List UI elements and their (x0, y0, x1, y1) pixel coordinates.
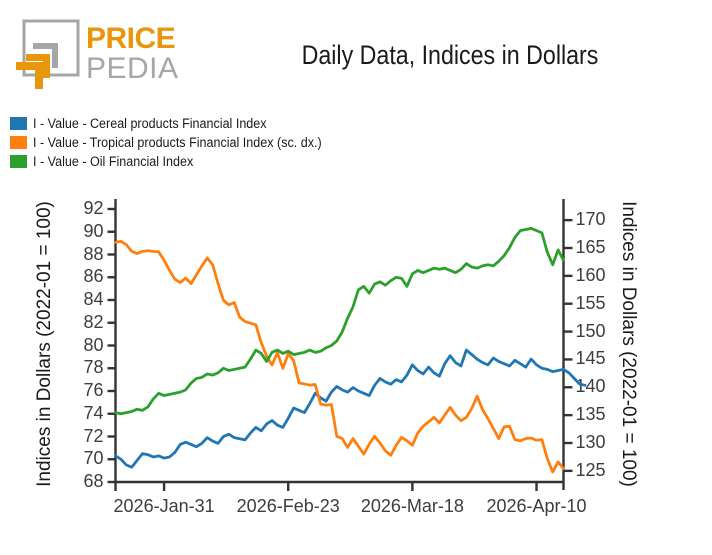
legend-item[interactable]: I - Value - Oil Financial Index (10, 152, 343, 170)
logo-word-price: PRICE (86, 24, 175, 54)
chart-legend: I - Value - Cereal products Financial In… (10, 114, 343, 171)
series-lines (116, 228, 586, 472)
chart-page: PRICE PEDIA Daily Data, Indices in Dolla… (0, 0, 712, 555)
legend-item[interactable]: I - Value - Cereal products Financial In… (10, 114, 343, 132)
logo-word-pedia: PEDIA (86, 54, 179, 84)
legend-label: I - Value - Tropical products Financial … (33, 135, 322, 150)
legend-swatch-cereal-icon (10, 117, 27, 130)
chart-container: Indices in Dollars (2022-01 = 100) Indic… (0, 185, 712, 555)
series-line (116, 228, 564, 413)
plot-area (0, 185, 712, 555)
legend-item[interactable]: I - Value - Tropical products Financial … (10, 133, 343, 151)
legend-label: I - Value - Oil Financial Index (33, 154, 193, 169)
series-line (116, 241, 564, 472)
legend-swatch-oil-icon (10, 155, 27, 168)
legend-swatch-tropical-icon (10, 136, 27, 149)
series-line (116, 350, 586, 467)
pricepedia-logo: PRICE PEDIA (14, 16, 204, 92)
legend-label: I - Value - Cereal products Financial In… (33, 116, 267, 131)
pricepedia-logo-mark-icon (14, 16, 90, 92)
pricepedia-wordmark: PRICE PEDIA (86, 18, 206, 90)
page-title: Daily Data, Indices in Dollars (235, 40, 665, 71)
